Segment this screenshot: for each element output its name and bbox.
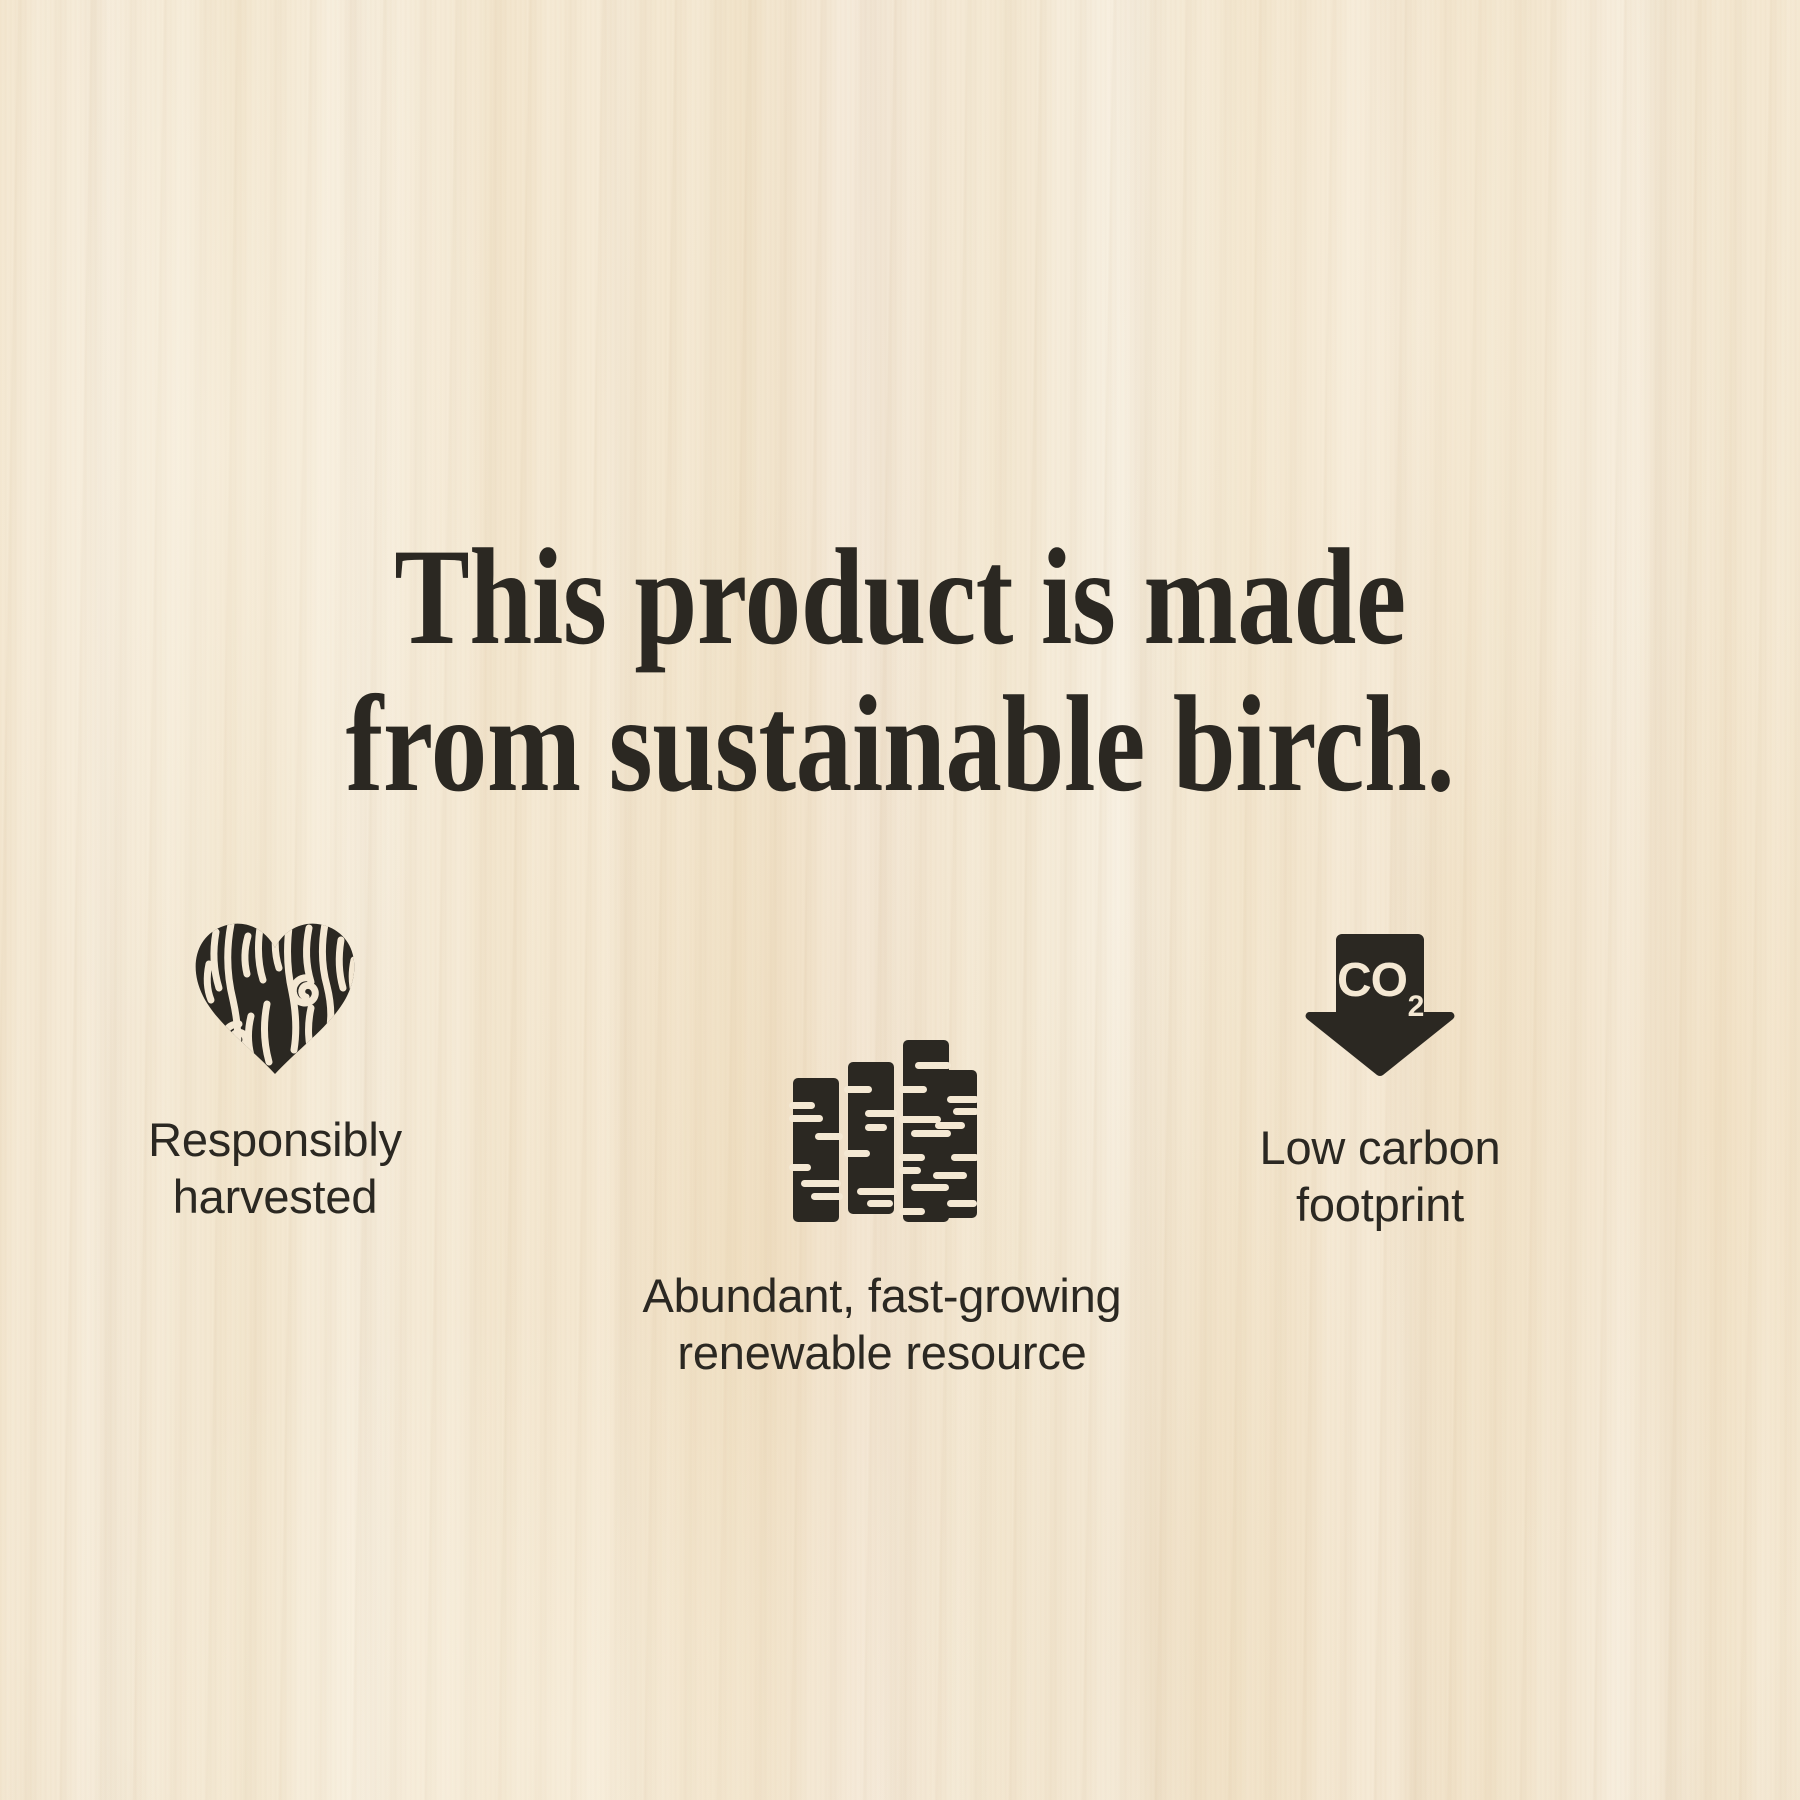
co2-icon-subscript: 2 [1408,990,1425,1023]
feature-label-renewable-resource: Abundant, fast-growing renewable resourc… [572,1267,1192,1382]
feature-label-responsibly-harvested: Responsibly harvested [90,1111,460,1226]
co2-down-arrow-icon: CO 2 [1140,934,1620,1083]
wood-grain-heart-icon [90,920,460,1081]
feature-responsibly-harvested: Responsibly harvested [90,920,460,1226]
birch-trunks-icon [572,1040,1192,1227]
feature-low-carbon-footprint: CO 2 Low carbon footprint [1140,934,1620,1234]
feature-label-low-carbon-footprint: Low carbon footprint [1140,1119,1620,1234]
feature-renewable-resource: Abundant, fast-growing renewable resourc… [572,1040,1192,1382]
background-vignette [0,0,1800,1800]
page-title: This product is made from sustainable bi… [162,524,1638,817]
co2-icon-text: CO [1337,954,1407,1007]
sustainable-birch-poster: This product is made from sustainable bi… [0,0,1800,1800]
